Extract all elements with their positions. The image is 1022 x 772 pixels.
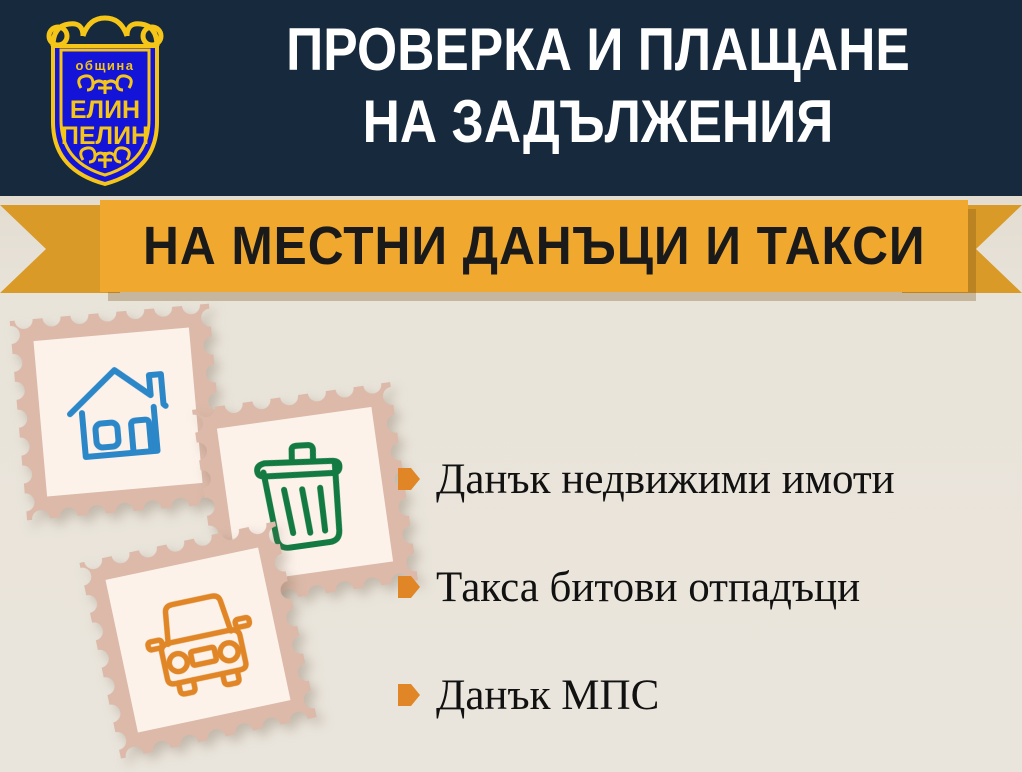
poster-canvas: община ЕЛИН ПЕЛИН: [0, 0, 1022, 772]
list-item[interactable]: Данък МПС: [398, 641, 1018, 749]
ribbon-body: НА МЕСТНИ ДАНЪЦИ И ТАКСИ: [100, 200, 968, 292]
bullet-arrow-icon: [398, 574, 420, 600]
ribbon-label: НА МЕСТНИ ДАНЪЦИ И ТАКСИ: [143, 215, 926, 277]
list-item[interactable]: Данък недвижими имоти: [398, 425, 1018, 533]
list-item-label: Данък недвижими имоти: [436, 458, 895, 501]
tax-type-list: Данък недвижими имоти Такса битови отпад…: [398, 425, 1018, 749]
subtitle-ribbon: НА МЕСТНИ ДАНЪЦИ И ТАКСИ: [0, 195, 1022, 305]
logo-name-line1: ЕЛИН: [70, 96, 140, 124]
page-title-line1: ПРОВЕРКА И ПЛАЩАНЕ: [245, 14, 950, 86]
header-title-block: ПРОВЕРКА И ПЛАЩАНЕ НА ЗАДЪЛЖЕНИЯ: [188, 14, 1008, 158]
list-item-label: Данък МПС: [436, 674, 659, 717]
page-title-line2: НА ЗАДЪЛЖЕНИЯ: [245, 86, 950, 158]
municipality-logo: община ЕЛИН ПЕЛИН: [25, 10, 185, 188]
header-banner: община ЕЛИН ПЕЛИН: [0, 0, 1022, 196]
stamp-car: [79, 521, 316, 758]
bullet-arrow-icon: [398, 682, 420, 708]
bullet-arrow-icon: [398, 466, 420, 492]
logo-name-line2: ПЕЛИН: [61, 122, 149, 150]
list-item[interactable]: Такса битови отпадъци: [398, 533, 1018, 641]
stamp-car-frame: [79, 521, 316, 758]
list-item-label: Такса битови отпадъци: [436, 566, 860, 609]
coat-of-arms-icon: община ЕЛИН ПЕЛИН: [25, 10, 185, 188]
logo-small-text: община: [75, 58, 134, 73]
